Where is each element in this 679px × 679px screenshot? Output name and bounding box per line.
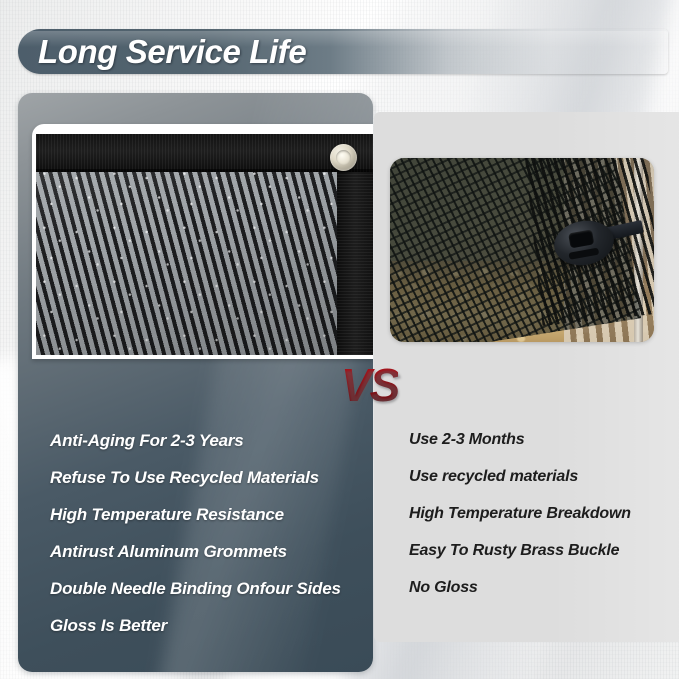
shade-cloth-weave	[36, 164, 343, 355]
list-item: Double Needle Binding Onfour Sides	[50, 578, 370, 599]
list-item: High Temperature Breakdown	[409, 504, 679, 524]
list-item: Antirust Aluminum Grommets	[50, 541, 370, 562]
binding-tape-top	[36, 134, 373, 172]
list-item: Use 2-3 Months	[409, 430, 679, 450]
list-item: Use recycled materials	[409, 467, 679, 487]
good-product-photo	[36, 134, 373, 355]
aluminum-grommet-icon	[330, 144, 357, 171]
list-item: Gloss Is Better	[50, 615, 370, 636]
list-item: Easy To Rusty Brass Buckle	[409, 541, 679, 561]
bad-product-photo	[390, 158, 654, 342]
list-item: No Gloss	[409, 578, 679, 598]
vs-badge: VS	[341, 362, 398, 408]
good-feature-list: Anti-Aging For 2-3 Years Refuse To Use R…	[50, 430, 370, 652]
weave-shading	[36, 164, 343, 355]
list-item: High Temperature Resistance	[50, 504, 370, 525]
bad-feature-list: Use 2-3 Months Use recycled materials Hi…	[409, 430, 679, 615]
list-item: Anti-Aging For 2-3 Years	[50, 430, 370, 451]
infographic-root: Long Service Life VS	[0, 0, 679, 679]
good-photo-frame	[32, 124, 373, 359]
page-title: Long Service Life	[38, 33, 306, 71]
list-item: Refuse To Use Recycled Materials	[50, 467, 370, 488]
